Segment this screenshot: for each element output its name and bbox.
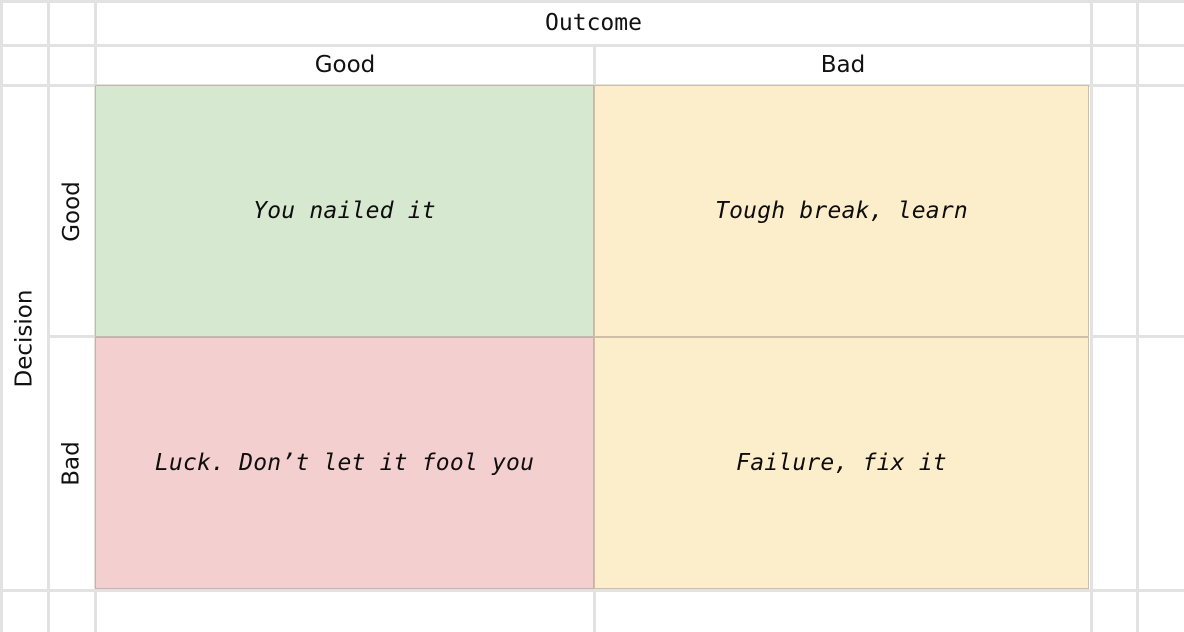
spacer-cell-bottom-2 [47, 589, 97, 632]
row-header-good-label: Good [61, 181, 84, 242]
quadrant-bad-good-text: Luck. Don’t let it fool you [155, 452, 534, 475]
quadrant-bad-decision-good-outcome[interactable]: Luck. Don’t let it fool you [95, 337, 594, 589]
spacer-cell-bottom-5 [1090, 589, 1139, 632]
decision-axis-label: Decision [14, 289, 37, 387]
spacer-cell-right-row1-b [1136, 84, 1184, 338]
column-header-bad-label: Bad [821, 54, 865, 77]
spacer-cell-header-right-2 [1136, 44, 1184, 87]
spacer-cell-header-left-1 [0, 44, 50, 87]
spacer-cell-top-right-1 [1090, 0, 1139, 47]
corner-cell-top-rowheader [47, 0, 97, 47]
quadrant-good-bad-text: Tough break, learn [715, 200, 968, 223]
quadrant-bad-bad-text: Failure, fix it [736, 452, 947, 475]
row-header-bad-label: Bad [61, 441, 84, 485]
quadrant-good-decision-bad-outcome[interactable]: Tough break, learn [594, 85, 1089, 337]
column-header-bad: Bad [593, 44, 1093, 87]
spacer-cell-right-row1-a [1090, 84, 1139, 338]
corner-cell-top-left [0, 0, 50, 47]
spacer-cell-bottom-1 [0, 589, 50, 632]
spacer-cell-right-row2-b [1136, 335, 1184, 592]
decision-axis-header: Decision [0, 84, 50, 592]
outcome-axis-label: Outcome [545, 12, 642, 35]
spacer-cell-bottom-6 [1136, 589, 1184, 632]
spacer-cell-top-right-2 [1136, 0, 1184, 47]
spacer-cell-bottom-4 [593, 589, 1093, 632]
spacer-cell-bottom-3 [94, 589, 596, 632]
decision-outcome-matrix: Outcome Good Bad Decision Good Bad You n… [0, 0, 1184, 632]
quadrant-good-good-text: You nailed it [253, 200, 436, 223]
row-header-good: Good [47, 84, 97, 338]
spacer-cell-header-right-1 [1090, 44, 1139, 87]
quadrant-good-decision-good-outcome[interactable]: You nailed it [95, 85, 594, 337]
column-header-good-label: Good [315, 54, 376, 77]
row-header-bad: Bad [47, 335, 97, 592]
quadrant-bad-decision-bad-outcome[interactable]: Failure, fix it [594, 337, 1089, 589]
outcome-axis-header: Outcome [94, 0, 1093, 47]
spacer-cell-header-left-2 [47, 44, 97, 87]
column-header-good: Good [94, 44, 596, 87]
spacer-cell-right-row2-a [1090, 335, 1139, 592]
